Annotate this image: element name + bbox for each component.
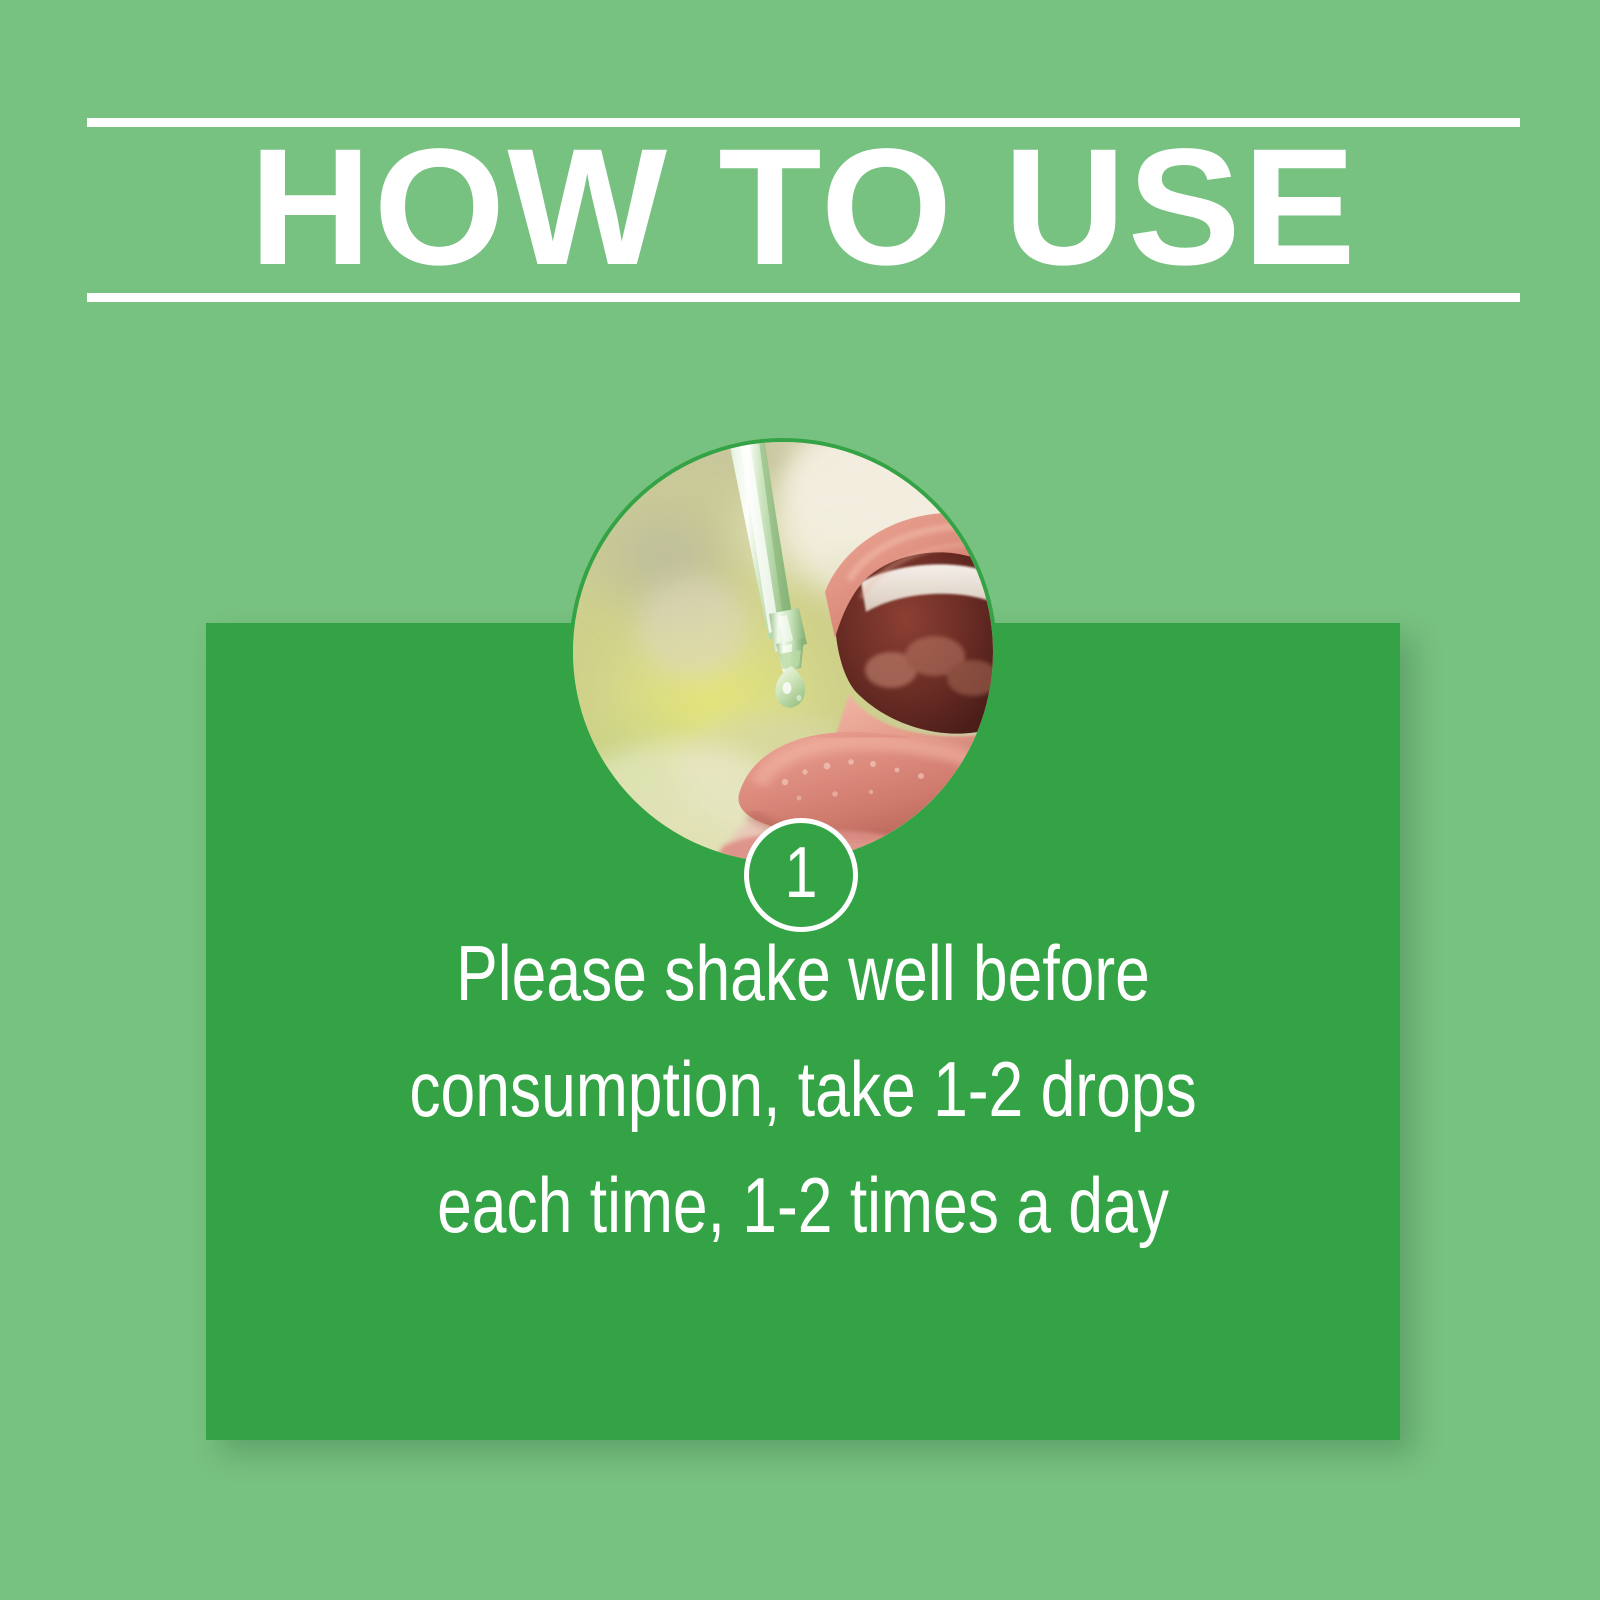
step-number-label: 1: [785, 837, 818, 909]
header: HOW TO USE: [87, 110, 1520, 310]
how-to-use-infographic: HOW TO USE: [0, 0, 1600, 1600]
bottom-divider-rule: [87, 293, 1520, 302]
step-photo-circle: [573, 442, 993, 862]
instruction-line-1: Please shake well before: [369, 915, 1238, 1031]
instruction-text: Please shake well before consumption, ta…: [260, 915, 1346, 1263]
instruction-line-3: each time, 1-2 times a day: [369, 1147, 1238, 1263]
dropper-mouth-photo: [573, 442, 993, 862]
instruction-line-2: consumption, take 1-2 drops: [369, 1031, 1238, 1147]
page-title: HOW TO USE: [73, 124, 1535, 292]
